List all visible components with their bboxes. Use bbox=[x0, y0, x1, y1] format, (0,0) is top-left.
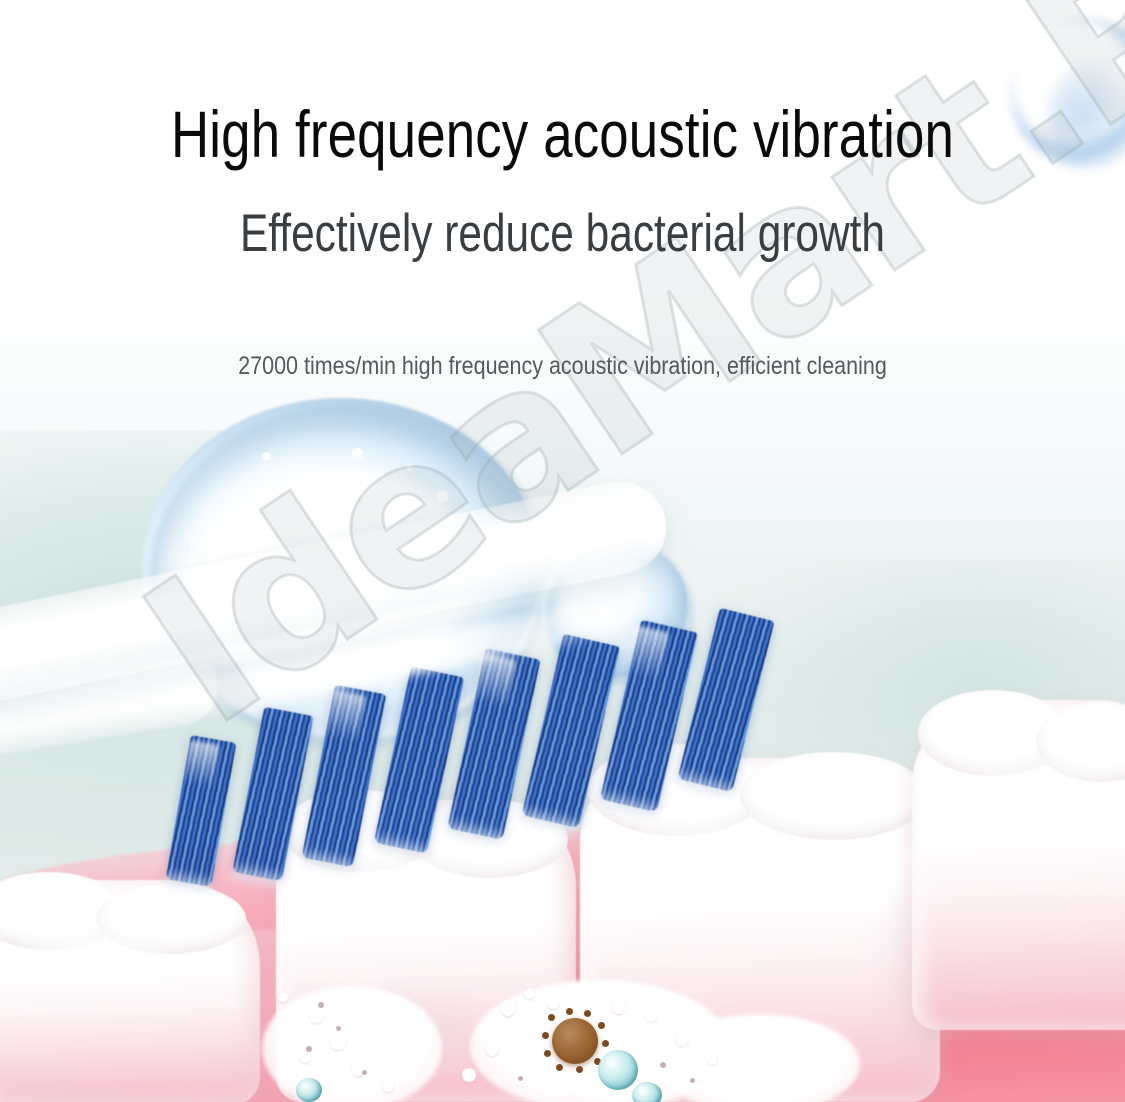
bubble-speck bbox=[262, 452, 271, 461]
page-body-text: 27000 times/min high frequency acoustic … bbox=[79, 352, 1047, 381]
foam-speck bbox=[362, 1070, 367, 1075]
bacteria-spike bbox=[548, 1014, 555, 1021]
foam-cluster bbox=[262, 986, 442, 1102]
foam-bubble bbox=[278, 992, 288, 1002]
bacteria-spike bbox=[598, 1022, 605, 1029]
foam-speck bbox=[660, 1062, 666, 1068]
foam-bubble bbox=[646, 1012, 656, 1022]
page-title: High frequency acoustic vibration bbox=[113, 96, 1013, 172]
foam-bubble bbox=[310, 1010, 323, 1023]
tooth-highlight bbox=[944, 748, 1114, 844]
foam-bubble bbox=[500, 1000, 516, 1016]
foam-bubble bbox=[486, 1044, 498, 1056]
foam-bubble bbox=[330, 1034, 346, 1050]
bacteria-spike bbox=[566, 1008, 573, 1015]
bubble-speck bbox=[300, 470, 306, 476]
bacteria-spike bbox=[602, 1040, 609, 1047]
foam-speck bbox=[690, 1078, 695, 1083]
toothbrush bbox=[0, 560, 760, 890]
tooth-highlight bbox=[10, 912, 180, 992]
foam-bubble bbox=[546, 996, 559, 1009]
bacteria-spike bbox=[556, 1064, 563, 1071]
foam-speck bbox=[518, 1076, 523, 1081]
foam-speck bbox=[318, 1002, 324, 1008]
foam-bubble bbox=[462, 1068, 476, 1082]
foam-bubble bbox=[300, 1052, 311, 1063]
bubble-speck bbox=[406, 464, 413, 471]
foam-bubble bbox=[612, 1000, 626, 1014]
teal-bubble bbox=[632, 1082, 662, 1102]
teal-bubble bbox=[598, 1050, 638, 1090]
bacteria-spike bbox=[576, 1066, 583, 1073]
toothbrush-bristles bbox=[0, 560, 760, 890]
teal-bubble bbox=[296, 1078, 322, 1102]
page-subtitle: Effectively reduce bacterial growth bbox=[113, 203, 1013, 264]
foam-speck bbox=[306, 1046, 312, 1052]
foam-bubble bbox=[676, 1034, 688, 1046]
bacteria-spike bbox=[544, 1050, 551, 1057]
bacteria-spike bbox=[542, 1032, 549, 1039]
bubble-speck bbox=[352, 448, 363, 459]
foam-bubble bbox=[382, 1080, 394, 1092]
bubble-speck bbox=[436, 490, 449, 503]
bacteria-spike bbox=[584, 1010, 591, 1017]
product-feature-poster: IdeaMart.Pk High frequency acoustic vibr… bbox=[0, 0, 1125, 1102]
foam-bubble bbox=[524, 988, 535, 999]
bacteria-particle bbox=[552, 1018, 598, 1064]
foam-bubble bbox=[708, 1056, 717, 1065]
foam-speck bbox=[336, 1026, 341, 1031]
